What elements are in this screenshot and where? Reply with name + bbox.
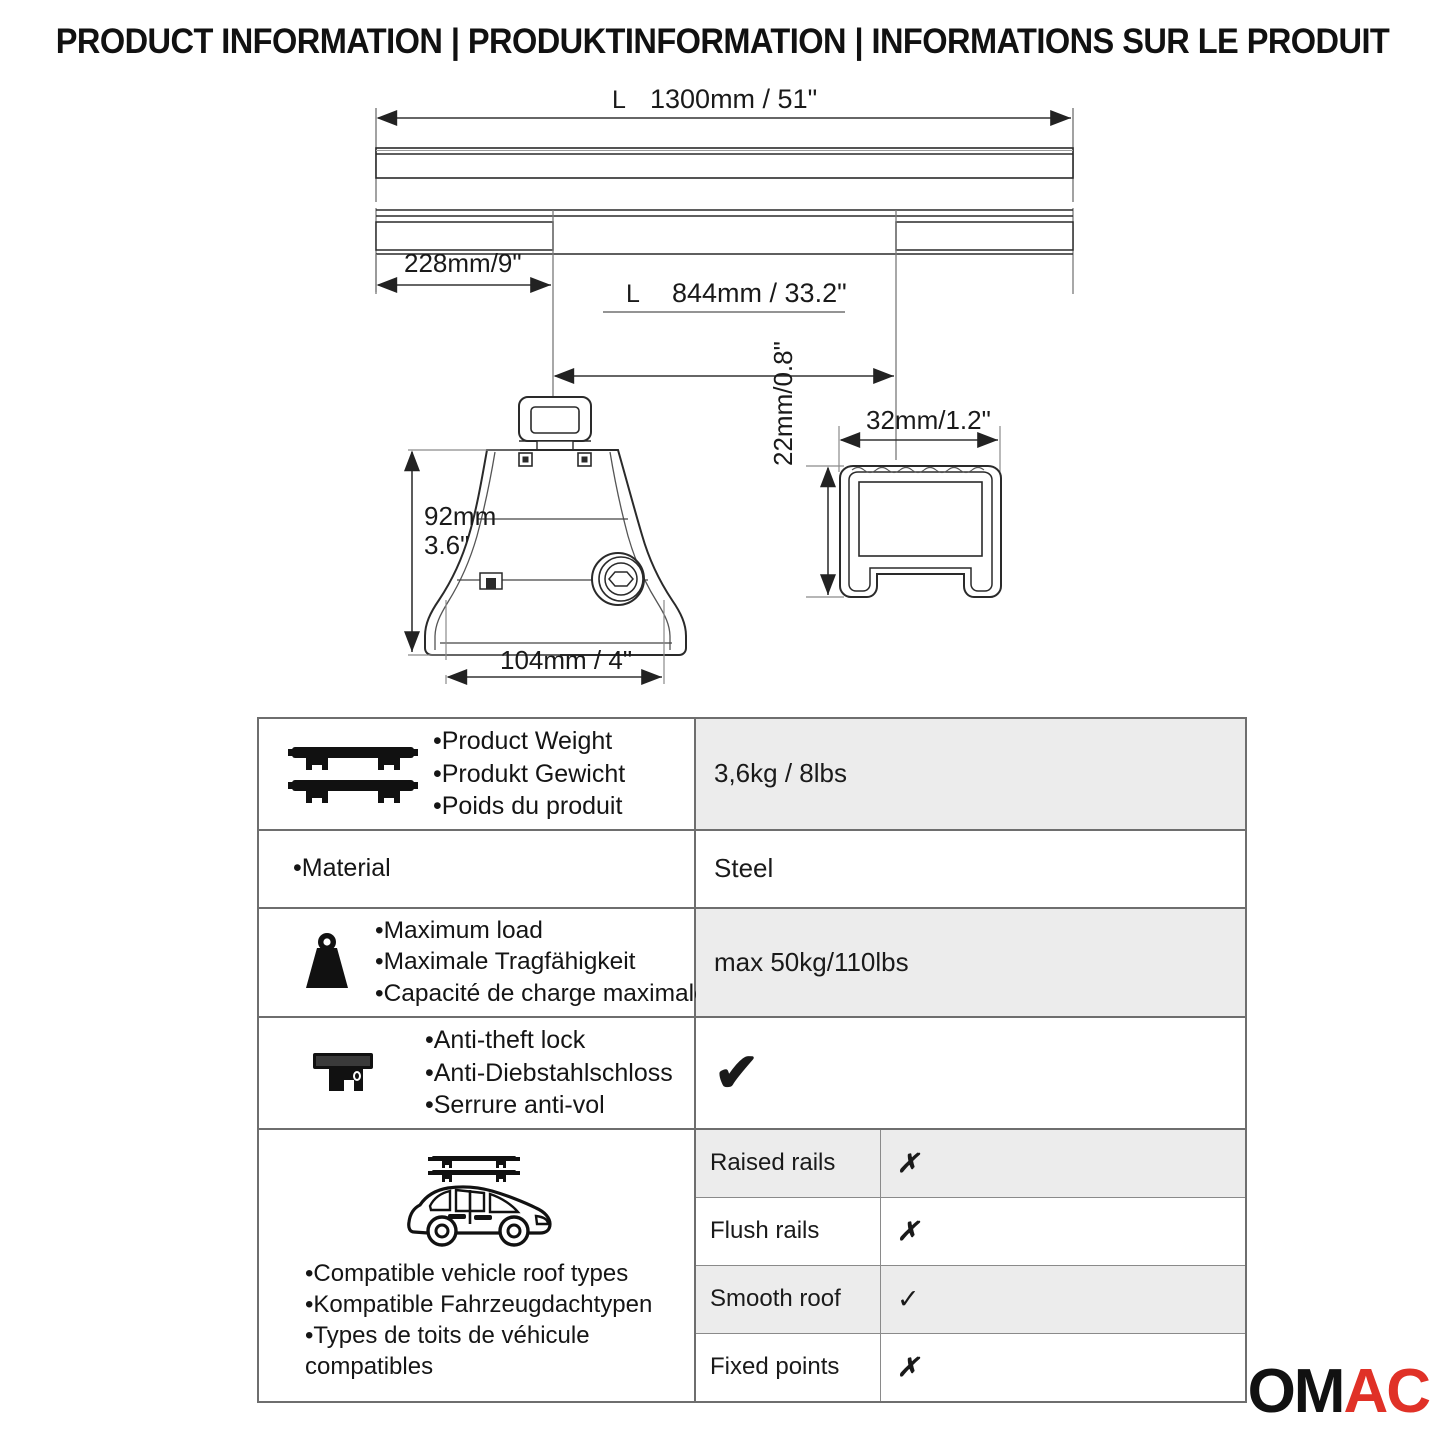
table-row-compatible-roof-types: •Compatible vehicle roof types •Kompatib…	[259, 1130, 1245, 1401]
page-title: PRODUCT INFORMATION | PRODUKTINFORMATION…	[51, 22, 1395, 62]
bar-length-label: 1300mm / 51"	[650, 84, 817, 115]
bullet-line: •Product Weight	[433, 725, 625, 758]
roof-type-name: Smooth roof	[696, 1266, 881, 1333]
bullet-line: •Serrure anti-vol	[425, 1089, 673, 1122]
compatible-roof-types-label-cell: •Compatible vehicle roof types •Kompatib…	[259, 1130, 696, 1401]
compatible-roof-types-bullets: •Compatible vehicle roof types •Kompatib…	[305, 1258, 652, 1383]
product-weight-value: 3,6kg / 8lbs	[696, 719, 1245, 829]
maximum-load-bullets: •Maximum load •Maximale Tragfähigkeit •C…	[375, 915, 708, 1011]
page-header: PRODUCT INFORMATION | PRODUKTINFORMATION…	[0, 22, 1445, 62]
anti-theft-lock-bullets: •Anti-theft lock •Anti-Diebstahlschloss …	[425, 1024, 673, 1122]
omac-logo: OMAC	[1248, 1361, 1429, 1423]
maximum-load-value: max 50kg/110lbs	[696, 909, 1245, 1017]
span-length-label: 844mm / 33.2"	[672, 278, 847, 309]
roof-type-mark-cross-icon: ✗	[881, 1130, 1245, 1197]
bullet-line: •Types de toits de véhicule compatibles	[305, 1320, 635, 1382]
roof-type-name: Fixed points	[696, 1334, 881, 1401]
bullet-line: •Capacité de charge maximale	[375, 978, 708, 1010]
roof-type-row-fixed-points: Fixed points ✗	[696, 1334, 1245, 1401]
foot-height-mm-label: 92mm	[424, 501, 496, 532]
bullet-line: •Maximale Tragfähigkeit	[375, 946, 708, 978]
two-crossbars-icon	[283, 741, 423, 807]
logo-text-om: OM	[1248, 1361, 1344, 1423]
table-row-material: •Material Steel	[259, 831, 1245, 909]
roof-type-mark-cross-icon: ✗	[881, 1334, 1245, 1401]
roof-type-subtable: Raised rails ✗ Flush rails ✗ Smooth roof…	[696, 1130, 1245, 1401]
technical-drawing: L 1300mm / 51" 228mm/9" L 844mm / 33.2" …	[0, 80, 1445, 705]
check-icon: ✔	[714, 1046, 759, 1100]
foot-offset-label: 228mm/9"	[404, 248, 522, 279]
weight-icon	[285, 929, 369, 995]
material-label-cell: •Material	[259, 831, 696, 907]
bullet-line: •Poids du produit	[433, 790, 625, 823]
roof-type-name: Raised rails	[696, 1130, 881, 1197]
car-with-roof-rack-icon	[400, 1148, 560, 1258]
roof-type-row-flush-rails: Flush rails ✗	[696, 1198, 1245, 1266]
maximum-load-label-cell: •Maximum load •Maximale Tragfähigkeit •C…	[259, 909, 696, 1017]
bullet-line: •Kompatible Fahrzeugdachtypen	[305, 1289, 652, 1320]
anti-theft-lock-label-cell: •Anti-theft lock •Anti-Diebstahlschloss …	[259, 1018, 696, 1128]
profile-height-label: 22mm/0.8"	[768, 341, 799, 466]
product-weight-label-cell: •Product Weight •Produkt Gewicht •Poids …	[259, 719, 696, 829]
material-bullets: •Material	[293, 852, 391, 885]
material-value: Steel	[696, 831, 1245, 907]
bar-length-prefix-label: L	[612, 86, 626, 115]
roof-type-row-raised-rails: Raised rails ✗	[696, 1130, 1245, 1198]
bullet-line: •Anti-theft lock	[425, 1024, 673, 1057]
bullet-line: •Maximum load	[375, 915, 708, 947]
roof-type-name: Flush rails	[696, 1198, 881, 1265]
span-prefix-label: L	[626, 280, 640, 309]
roof-type-row-smooth-roof: Smooth roof ✓	[696, 1266, 1245, 1334]
foot-width-label: 104mm / 4"	[500, 645, 632, 676]
table-row-product-weight: •Product Weight •Produkt Gewicht •Poids …	[259, 719, 1245, 831]
logo-text-ac: AC	[1343, 1361, 1429, 1423]
specification-table: •Product Weight •Produkt Gewicht •Poids …	[257, 717, 1247, 1403]
bullet-line: •Anti-Diebstahlschloss	[425, 1057, 673, 1090]
bullet-line: •Material	[293, 852, 391, 885]
anti-theft-lock-value-cell: ✔	[696, 1018, 1245, 1128]
product-weight-bullets: •Product Weight •Produkt Gewicht •Poids …	[433, 725, 625, 823]
bullet-line: •Produkt Gewicht	[433, 758, 625, 791]
roof-type-mark-cross-icon: ✗	[881, 1198, 1245, 1265]
lock-icon	[285, 1047, 403, 1099]
bullet-line: •Compatible vehicle roof types	[305, 1258, 652, 1289]
table-row-maximum-load: •Maximum load •Maximale Tragfähigkeit •C…	[259, 909, 1245, 1019]
product-information-sheet: PRODUCT INFORMATION | PRODUKTINFORMATION…	[0, 0, 1445, 1445]
roof-type-mark-check-icon: ✓	[881, 1266, 1245, 1333]
table-row-anti-theft-lock: •Anti-theft lock •Anti-Diebstahlschloss …	[259, 1018, 1245, 1130]
foot-height-in-label: 3.6"	[424, 530, 469, 561]
profile-width-label: 32mm/1.2"	[866, 405, 991, 436]
